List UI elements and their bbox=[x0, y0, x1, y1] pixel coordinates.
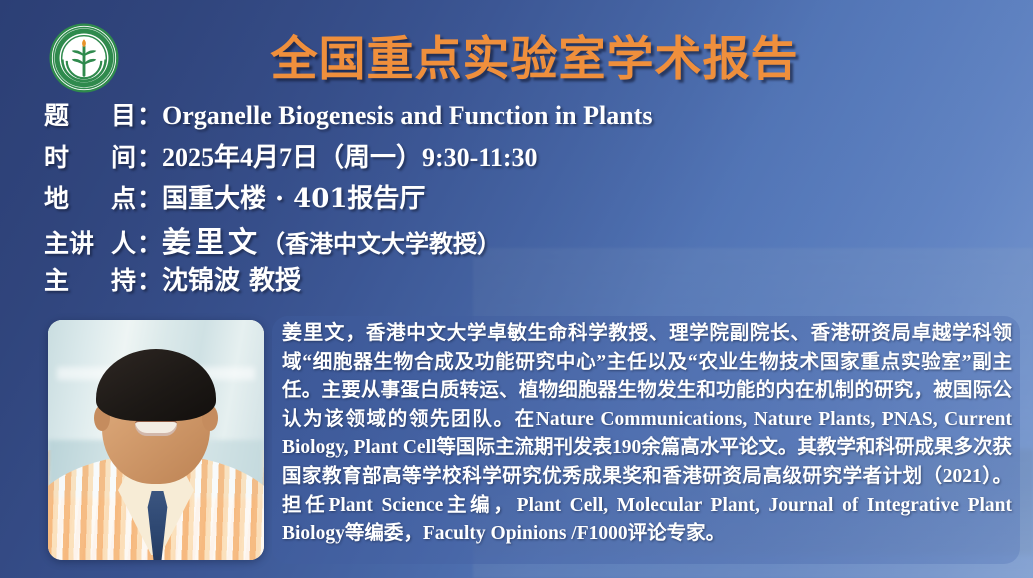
info-row-topic: 题 目 ： Organelle Biogenesis and Function … bbox=[44, 96, 984, 137]
datetime-label-char-b: 间 bbox=[111, 138, 136, 174]
topic-label-char-b: 目 bbox=[111, 96, 136, 132]
info-row-venue: 地 点 ： 国重大楼 · 401报告厅 bbox=[44, 178, 984, 219]
datetime-label: 时 间 ： bbox=[44, 138, 162, 174]
topic-label-colon: ： bbox=[137, 96, 162, 132]
speaker-value: 姜里文（香港中文大学教授） bbox=[162, 219, 501, 261]
biography-body: ，香港中文大学卓敏生命科学教授、理学院副院长、香港研资局卓越学科领域“细胞器生物… bbox=[282, 323, 1012, 544]
host-value: 沈锦波 教授 bbox=[162, 260, 301, 297]
host-label-char-a: 主 bbox=[44, 261, 69, 297]
speaker-name: 姜里文 bbox=[162, 225, 261, 259]
topic-label: 题 目 ： bbox=[44, 96, 162, 132]
info-row-host: 主 持 ： 沈锦波 教授 bbox=[44, 260, 984, 301]
speaker-label: 主讲 人 ： bbox=[44, 224, 162, 260]
portrait-mouth bbox=[135, 420, 177, 436]
info-row-speaker: 主讲 人 ： 姜里文（香港中文大学教授） bbox=[44, 219, 984, 260]
page-title: 全国重点实验室学术报告 bbox=[0, 20, 1033, 89]
speaker-label-char-a: 主讲 bbox=[44, 224, 94, 260]
host-label: 主 持 ： bbox=[44, 261, 162, 297]
venue-value: 国重大楼 · 401报告厅 bbox=[162, 178, 425, 215]
venue-label-char-b: 点 bbox=[111, 179, 136, 215]
info-row-datetime: 时 间 ： 2025年4月7日（周一）9:30-11:30 bbox=[44, 137, 984, 178]
speaker-label-char-b: 人 bbox=[111, 224, 136, 260]
topic-value: Organelle Biogenesis and Function in Pla… bbox=[162, 101, 652, 131]
speaker-portrait bbox=[48, 320, 264, 560]
speaker-affiliation: （香港中文大学教授） bbox=[261, 229, 501, 258]
venue-label-colon: ： bbox=[137, 179, 162, 215]
seminar-info-list: 题 目 ： Organelle Biogenesis and Function … bbox=[44, 96, 984, 301]
datetime-label-colon: ： bbox=[137, 138, 162, 174]
datetime-label-char-a: 时 bbox=[44, 138, 69, 174]
biography-text: 姜里文，香港中文大学卓敏生命科学教授、理学院副院长、香港研资局卓越学科领域“细胞… bbox=[282, 318, 1012, 549]
speaker-label-colon: ： bbox=[137, 224, 162, 260]
venue-label-char-a: 地 bbox=[44, 179, 69, 215]
venue-label: 地 点 ： bbox=[44, 179, 162, 215]
host-label-char-b: 持 bbox=[111, 261, 136, 297]
topic-label-char-a: 题 bbox=[44, 96, 69, 132]
host-label-colon: ： bbox=[137, 261, 162, 297]
seminar-poster: 全国重点实验室学术报告 题 目 ： Organelle Biogenesis a… bbox=[0, 0, 1033, 578]
biography-lead-name: 姜里文 bbox=[282, 320, 346, 344]
portrait-image bbox=[48, 320, 264, 560]
datetime-value: 2025年4月7日（周一）9:30-11:30 bbox=[162, 137, 538, 174]
poster-header: 全国重点实验室学术报告 bbox=[0, 6, 1033, 92]
